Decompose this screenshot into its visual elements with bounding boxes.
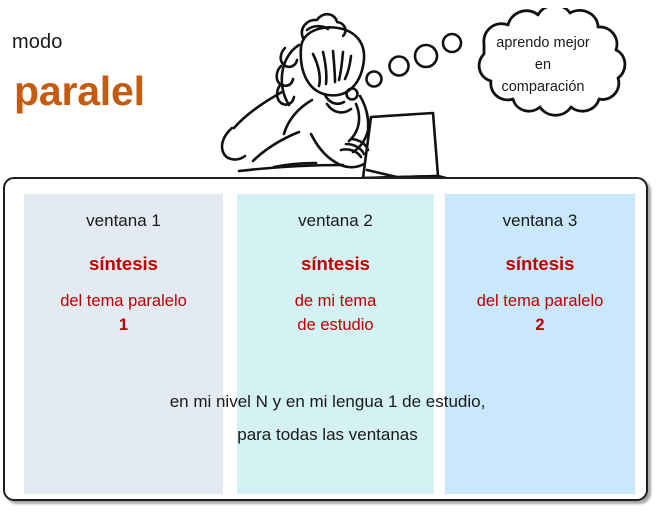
synthesis-label-3: síntesis (445, 253, 635, 275)
thought-bubble-text: aprendo mejor en comparación (462, 32, 624, 98)
synthesis-label-1: síntesis (24, 253, 223, 275)
detail-number-3: 2 (445, 313, 635, 337)
window-column-2[interactable]: ventana 2 síntesis de mi tema de estudio (237, 194, 434, 494)
detail-text-3: del tema paralelo 2 (445, 289, 635, 337)
thought-line-3: comparación (501, 79, 584, 95)
detail-text-1: del tema paralelo 1 (24, 289, 223, 337)
thought-line-1: aprendo mejor (496, 35, 590, 51)
windows-panel: ventana 1 síntesis del tema paralelo 1 v… (3, 177, 648, 501)
detail-line-3: del tema paralelo (477, 292, 604, 310)
window-column-1[interactable]: ventana 1 síntesis del tema paralelo 1 (24, 194, 223, 494)
thought-line-2: en (535, 57, 551, 73)
page-title: paralel (14, 71, 145, 112)
synthesis-label-2: síntesis (237, 253, 434, 275)
person-studying-with-laptop-icon (215, 0, 450, 178)
window-label-3: ventana 3 (445, 210, 635, 232)
detail-number-1: 1 (24, 313, 223, 337)
mode-label: modo (12, 31, 62, 54)
detail-number-2: de estudio (237, 313, 434, 337)
slide-canvas: modo paralel (0, 0, 657, 512)
window-label-2: ventana 2 (237, 210, 434, 232)
detail-text-2: de mi tema de estudio (237, 289, 434, 337)
window-label-1: ventana 1 (24, 210, 223, 232)
detail-line-2: de mi tema (295, 292, 377, 310)
window-column-3[interactable]: ventana 3 síntesis del tema paralelo 2 (445, 194, 635, 494)
detail-line-1: del tema paralelo (60, 292, 187, 310)
